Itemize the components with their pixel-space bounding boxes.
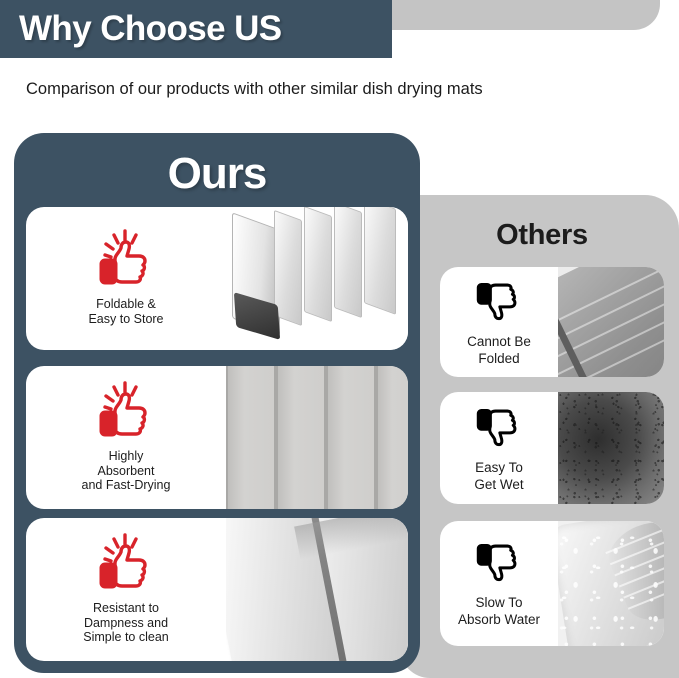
caption-line: Dampness and bbox=[83, 616, 168, 631]
caption-line: Absorb Water bbox=[458, 612, 540, 629]
caption-line: Folded bbox=[467, 351, 531, 368]
others-drawback-card[interactable]: Slow To Absorb Water bbox=[440, 521, 664, 646]
thumbs-up-icon bbox=[95, 380, 157, 442]
ours-panel-title: Ours bbox=[14, 149, 420, 199]
page-subtitle: Comparison of our products with other si… bbox=[26, 80, 656, 99]
wet-fabric-texture-photo bbox=[558, 392, 664, 504]
flat-ribbed-mat-photo bbox=[558, 267, 664, 377]
ours-feature-card[interactable]: Foldable & Easy to Store bbox=[26, 207, 408, 350]
header-accent-band bbox=[392, 0, 660, 30]
caption-line: Absorbent bbox=[82, 464, 171, 479]
caption-line: Easy to Store bbox=[88, 312, 163, 327]
card-caption: Foldable & Easy to Store bbox=[88, 297, 163, 327]
card-content: Cannot Be Folded bbox=[440, 267, 558, 377]
card-caption: Resistant to Dampness and Simple to clea… bbox=[83, 601, 168, 645]
caption-line: and Fast-Drying bbox=[82, 478, 171, 493]
thumbs-up-icon bbox=[95, 532, 157, 594]
header-banner: Why Choose US bbox=[0, 0, 392, 58]
card-caption: Easy To Get Wet bbox=[474, 460, 523, 494]
water-droplet-mat-photo bbox=[558, 521, 664, 646]
folded-white-mat-photo bbox=[226, 207, 408, 350]
thumbs-down-icon bbox=[473, 275, 525, 327]
card-caption: Slow To Absorb Water bbox=[458, 595, 540, 629]
card-caption: Cannot Be Folded bbox=[467, 334, 531, 368]
card-caption: Highly Absorbent and Fast-Drying bbox=[82, 449, 171, 493]
card-content: Slow To Absorb Water bbox=[440, 521, 558, 646]
card-content: Resistant to Dampness and Simple to clea… bbox=[26, 518, 226, 661]
others-drawback-card[interactable]: Cannot Be Folded bbox=[440, 267, 664, 377]
folded-light-mat-photo bbox=[226, 518, 408, 661]
caption-line: Get Wet bbox=[474, 477, 523, 494]
caption-line: Cannot Be bbox=[467, 334, 531, 351]
card-content: Easy To Get Wet bbox=[440, 392, 558, 504]
caption-line: Simple to clean bbox=[83, 630, 168, 645]
caption-line: Slow To bbox=[458, 595, 540, 612]
ours-feature-card[interactable]: Highly Absorbent and Fast-Drying bbox=[26, 366, 408, 509]
caption-line: Resistant to bbox=[83, 601, 168, 616]
card-content: Highly Absorbent and Fast-Drying bbox=[26, 366, 226, 509]
ribbed-gray-mat-photo bbox=[226, 366, 408, 509]
thumbs-up-icon bbox=[95, 228, 157, 290]
others-panel-title: Others bbox=[422, 219, 662, 252]
caption-line: Easy To bbox=[474, 460, 523, 477]
thumbs-down-icon bbox=[473, 536, 525, 588]
others-drawback-card[interactable]: Easy To Get Wet bbox=[440, 392, 664, 504]
card-content: Foldable & Easy to Store bbox=[26, 207, 226, 350]
caption-line: Highly bbox=[82, 449, 171, 464]
thumbs-down-icon bbox=[473, 401, 525, 453]
caption-line: Foldable & bbox=[88, 297, 163, 312]
page-title: Why Choose US bbox=[0, 9, 282, 49]
ours-feature-card[interactable]: Resistant to Dampness and Simple to clea… bbox=[26, 518, 408, 661]
